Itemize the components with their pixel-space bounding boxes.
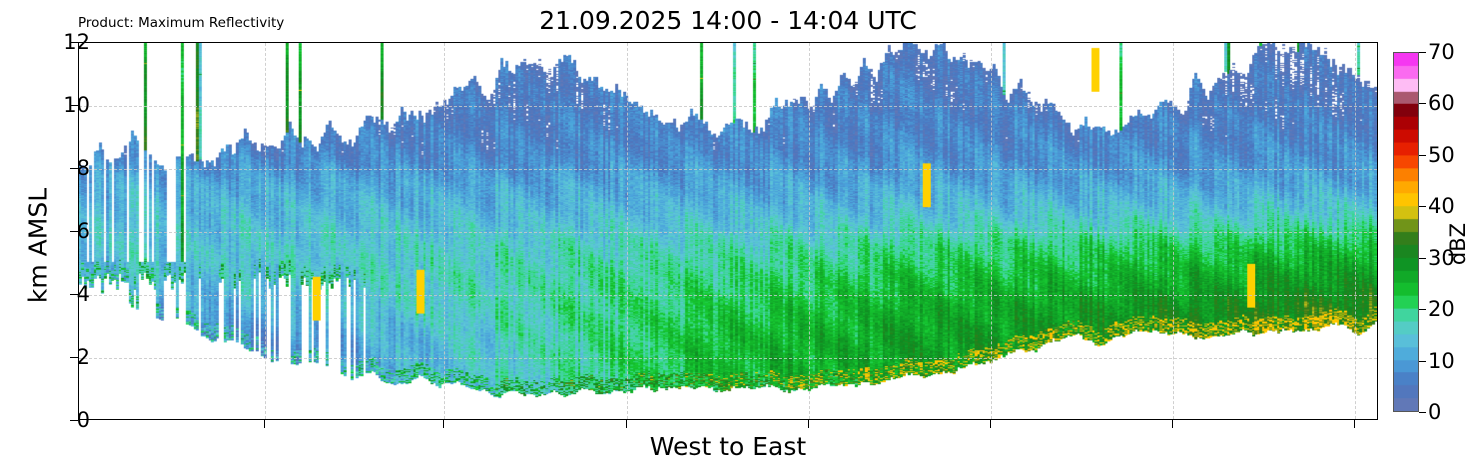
y-tick-mark <box>70 420 78 421</box>
colorbar-tick-mark <box>1419 155 1426 156</box>
colorbar-tick-mark <box>1419 412 1426 413</box>
x-tick-mark <box>264 420 265 428</box>
y-tick-mark <box>70 42 78 43</box>
colorbar-tick-mark <box>1419 206 1426 207</box>
x-axis-label: West to East <box>78 432 1378 461</box>
colorbar-gradient <box>1393 52 1419 412</box>
colorbar-tick-mark <box>1419 361 1426 362</box>
colorbar-tick-mark <box>1419 103 1426 104</box>
x-tick-mark <box>443 420 444 428</box>
y-tick-label: 0 <box>77 408 90 432</box>
page-title: 21.09.2025 14:00 - 14:04 UTC <box>78 6 1378 35</box>
radar-cross-section-figure: Product: Maximum Reflectivity 21.09.2025… <box>0 0 1482 470</box>
colorbar-tick-mark <box>1419 258 1426 259</box>
colorbar-tick-mark <box>1419 309 1426 310</box>
y-tick-label: 4 <box>77 282 90 306</box>
reflectivity-heatmap-canvas <box>79 43 1377 419</box>
y-tick-mark <box>70 105 78 106</box>
x-tick-mark <box>626 420 627 428</box>
colorbar-tick-label: 60 <box>1428 91 1455 115</box>
y-tick-label: 8 <box>77 156 90 180</box>
y-axis-label: km AMSL <box>24 146 53 346</box>
colorbar-tick-label: 10 <box>1428 349 1455 373</box>
colorbar-tick-label: 50 <box>1428 143 1455 167</box>
x-tick-mark <box>1354 420 1355 428</box>
y-tick-mark <box>70 168 78 169</box>
y-tick-mark <box>70 294 78 295</box>
y-tick-label: 2 <box>77 345 90 369</box>
y-tick-label: 6 <box>77 219 90 243</box>
x-tick-mark <box>808 420 809 428</box>
y-tick-mark <box>70 357 78 358</box>
y-tick-mark <box>70 231 78 232</box>
colorbar <box>1393 52 1419 412</box>
colorbar-tick-mark <box>1419 52 1426 53</box>
plot-area <box>78 42 1378 420</box>
colorbar-tick-label: 70 <box>1428 40 1455 64</box>
colorbar-label: dBZ <box>1446 184 1470 304</box>
x-tick-mark <box>1172 420 1173 428</box>
colorbar-tick-label: 0 <box>1428 400 1441 424</box>
x-tick-mark <box>990 420 991 428</box>
